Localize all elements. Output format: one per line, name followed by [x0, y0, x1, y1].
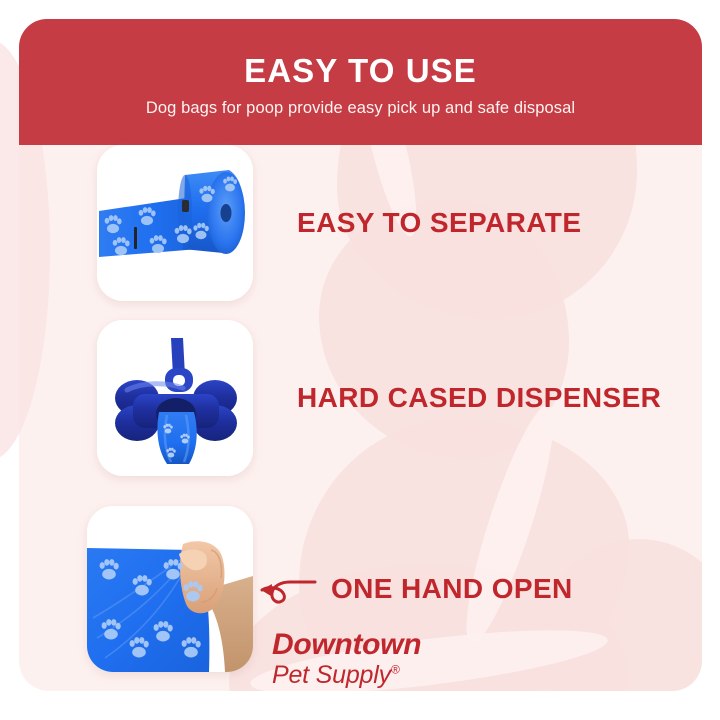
curly-arrow-pointing-left: [257, 566, 319, 612]
registered-trademark-icon: ®: [391, 663, 400, 677]
feature-row-easy-to-separate: EASY TO SEPARATE: [97, 145, 581, 301]
brand-logo-line2-text: Pet Supply: [272, 661, 391, 689]
feature-row-hard-cased-dispenser: HARD CASED DISPENSER: [97, 320, 661, 476]
photo-card-bag-roll: [97, 145, 253, 301]
header-banner: EASY TO USE Dog bags for poop provide ea…: [19, 19, 702, 145]
blue-poop-bag-roll-photo: [97, 145, 253, 301]
bone-shaped-dispenser-photo: [97, 320, 253, 476]
feature-label-one-hand-open: ONE HAND OPEN: [331, 573, 573, 605]
brand-logo-line2: Pet Supply®: [272, 663, 421, 688]
feature-label-hard-cased-dispenser: HARD CASED DISPENSER: [297, 382, 661, 414]
page-subtitle: Dog bags for poop provide easy pick up a…: [19, 90, 702, 118]
page-title: EASY TO USE: [19, 19, 702, 90]
hand-opening-bag-photo: [87, 506, 253, 672]
photo-card-dispenser: [97, 320, 253, 476]
brand-logo-line1: Downtown: [272, 630, 421, 660]
feature-label-easy-to-separate: EASY TO SEPARATE: [297, 207, 581, 239]
photo-card-hand-open: [87, 506, 253, 672]
brand-logo: Downtown Pet Supply®: [272, 630, 421, 688]
product-infographic: EASY TO USE Dog bags for poop provide ea…: [0, 0, 720, 720]
